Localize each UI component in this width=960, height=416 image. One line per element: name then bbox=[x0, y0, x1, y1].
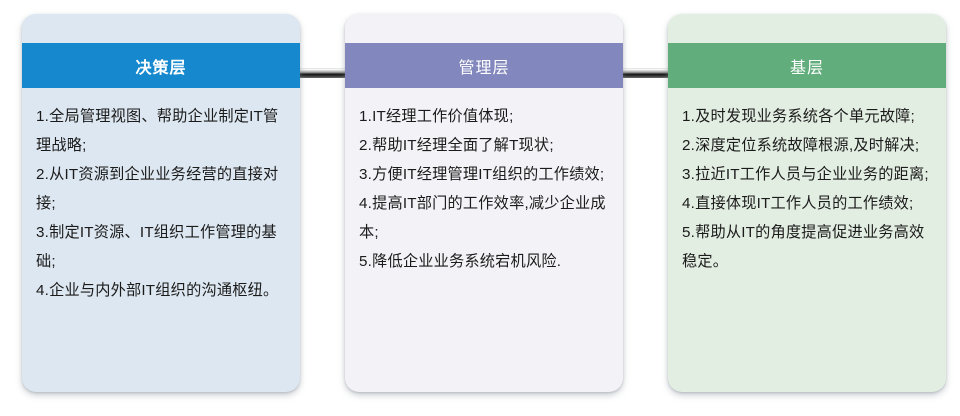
decision-layer-list: 1.全局管理视图、帮助企业制定IT管理战略; 2.从IT资源到企业业务经营的直接… bbox=[36, 102, 288, 305]
card-management-layer-body: 1.IT经理工作价值体现; 2.帮助IT经理全面了解T现状; 3.方便IT经理管… bbox=[345, 88, 623, 392]
list-item: 1.全局管理视图、帮助企业制定IT管理战略; bbox=[36, 102, 288, 160]
three-layer-diagram: 决策层 1.全局管理视图、帮助企业制定IT管理战略; 2.从IT资源到企业业务经… bbox=[0, 0, 960, 416]
list-item: 3.制定IT资源、IT组织工作管理的基础; bbox=[36, 218, 288, 276]
card-base-layer-header: 基层 bbox=[668, 43, 946, 88]
list-item: 1.IT经理工作价值体现; bbox=[359, 102, 611, 131]
management-layer-list: 1.IT经理工作价值体现; 2.帮助IT经理全面了解T现状; 3.方便IT经理管… bbox=[359, 102, 611, 276]
card-base-layer[interactable]: 基层 1.及时发现业务系统各个单元故障; 2.深度定位系统故障根源,及时解决; … bbox=[668, 14, 946, 392]
list-item: 4.提高IT部门的工作效率,减少企业成本; bbox=[359, 189, 611, 247]
list-item: 3.方便IT经理管理IT组织的工作绩效; bbox=[359, 160, 611, 189]
list-item: 4.直接体现IT工作人员的工作绩效; bbox=[682, 189, 934, 218]
card-decision-layer[interactable]: 决策层 1.全局管理视图、帮助企业制定IT管理战略; 2.从IT资源到企业业务经… bbox=[22, 14, 300, 392]
card-decision-layer-header: 决策层 bbox=[22, 43, 300, 88]
list-item: 2.深度定位系统故障根源,及时解决; bbox=[682, 131, 934, 160]
card-base-layer-body: 1.及时发现业务系统各个单元故障; 2.深度定位系统故障根源,及时解决; 3.拉… bbox=[668, 88, 946, 392]
card-decision-layer-title: 决策层 bbox=[135, 54, 186, 78]
card-management-layer-header: 管理层 bbox=[345, 43, 623, 88]
list-item: 2.从IT资源到企业业务经营的直接对接; bbox=[36, 160, 288, 218]
list-item: 5.帮助从IT的角度提高促进业务高效稳定。 bbox=[682, 218, 934, 276]
list-item: 5.降低企业业务系统宕机风险. bbox=[359, 247, 611, 276]
list-item: 1.及时发现业务系统各个单元故障; bbox=[682, 102, 934, 131]
card-decision-layer-body: 1.全局管理视图、帮助企业制定IT管理战略; 2.从IT资源到企业业务经营的直接… bbox=[22, 88, 300, 392]
card-management-layer-title: 管理层 bbox=[458, 54, 509, 78]
list-item: 2.帮助IT经理全面了解T现状; bbox=[359, 131, 611, 160]
card-management-layer[interactable]: 管理层 1.IT经理工作价值体现; 2.帮助IT经理全面了解T现状; 3.方便I… bbox=[345, 14, 623, 392]
list-item: 4.企业与内外部IT组织的沟通枢纽。 bbox=[36, 276, 288, 305]
card-base-layer-title: 基层 bbox=[790, 54, 824, 78]
base-layer-list: 1.及时发现业务系统各个单元故障; 2.深度定位系统故障根源,及时解决; 3.拉… bbox=[682, 102, 934, 276]
list-item: 3.拉近IT工作人员与企业业务的距离; bbox=[682, 160, 934, 189]
